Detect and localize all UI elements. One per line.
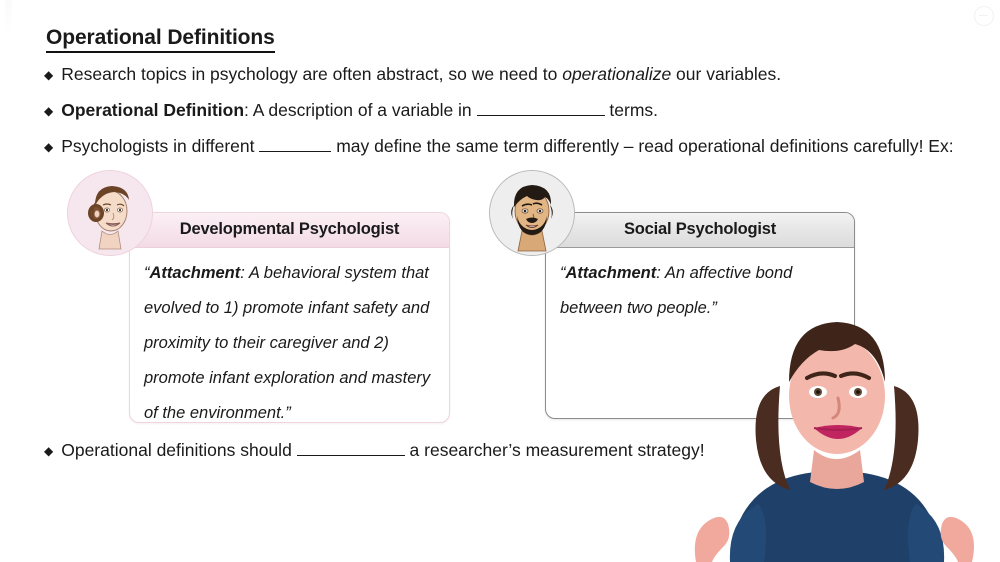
bullet-4-text: Operational definitions should a researc…: [61, 440, 704, 462]
diamond-bullet-icon: ◆: [44, 69, 53, 81]
social-card-body: “Attachment: An affective bond between t…: [546, 248, 854, 326]
page-title: Operational Definitions: [46, 27, 275, 53]
bullet-2-part1: : A description of a variable in: [244, 100, 477, 120]
bullet-item-4: ◆ Operational definitions should a resea…: [44, 440, 705, 462]
slide-canvas: Operational Definitions ◆ Research topic…: [0, 0, 1000, 562]
diamond-bullet-icon: ◆: [44, 141, 53, 153]
fill-in-blank-3: [259, 151, 331, 152]
social-card-header: Social Psychologist: [546, 213, 854, 248]
bullet-item-3: ◆ Psychologists in different may define …: [44, 136, 954, 158]
circle-watermark: [974, 6, 994, 26]
developmental-definition: : A behavioral system that evolved to 1)…: [144, 264, 430, 422]
developmental-psychologist-avatar: [67, 170, 153, 256]
diamond-bullet-icon: ◆: [44, 105, 53, 117]
bullet-2-part2: terms.: [605, 100, 658, 120]
social-psychologist-avatar: [489, 170, 575, 256]
bullet-1-part2: our variables.: [671, 64, 781, 84]
bullet-item-1: ◆ Research topics in psychology are ofte…: [44, 64, 781, 86]
bullet-4-part2: a researcher’s measurement strategy!: [405, 440, 705, 460]
bullet-2-text: Operational Definition: A description of…: [61, 100, 658, 122]
fill-in-blank-4: [297, 455, 405, 456]
bullet-item-2: ◆ Operational Definition: A description …: [44, 100, 658, 122]
bullet-1-part1: Research topics in psychology are often …: [61, 64, 562, 84]
developmental-card-body: “Attachment: A behavioral system that ev…: [130, 248, 449, 423]
developmental-psychologist-card: Developmental Psychologist “Attachment: …: [129, 212, 450, 423]
social-term: Attachment: [566, 264, 657, 282]
social-psychologist-card: Social Psychologist “Attachment: An affe…: [545, 212, 855, 419]
bullet-1-emphasis: operationalize: [562, 64, 671, 84]
bullet-2-term: Operational Definition: [61, 100, 244, 120]
bullet-1-text: Research topics in psychology are often …: [61, 64, 781, 86]
developmental-card-header: Developmental Psychologist: [130, 213, 449, 248]
fill-in-blank-2: [477, 115, 605, 116]
edge-watermark: [5, 0, 12, 34]
bullet-4-part1: Operational definitions should: [61, 440, 296, 460]
developmental-term: Attachment: [150, 264, 241, 282]
bullet-3-part2: may define the same term differently – r…: [331, 136, 953, 156]
diamond-bullet-icon: ◆: [44, 445, 53, 457]
bullet-3-text: Psychologists in different may define th…: [61, 136, 953, 158]
bullet-3-part1: Psychologists in different: [61, 136, 259, 156]
